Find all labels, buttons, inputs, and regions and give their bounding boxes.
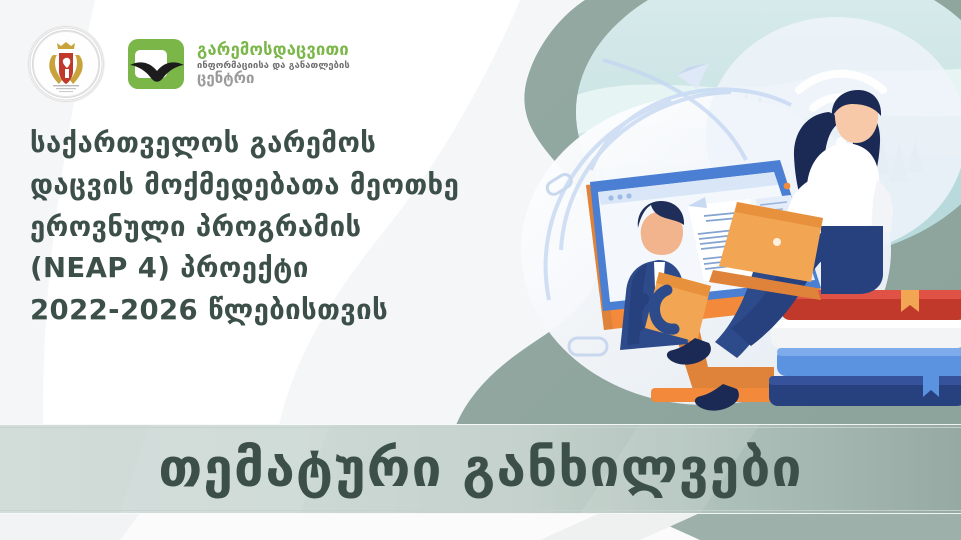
logo-line-1: გარემოსდაცვითი (197, 42, 350, 59)
logo-group: გარემოსდაცვითი ინფორმაციისა და განათლები… (28, 26, 350, 102)
logo-line-3: ცენტრი (197, 71, 350, 86)
title-line-1: საქართველოს გარემოს (30, 123, 459, 165)
ministry-emblem-icon (28, 26, 104, 102)
below-banner-shapes (0, 513, 961, 540)
bottom-banner: თემატური განხილვები (0, 424, 961, 514)
banner-title: თემატური განხილვები (0, 424, 961, 514)
book-stack (769, 290, 961, 406)
logo-mark-svg (126, 35, 188, 93)
logo-wordmark: გარემოსდაცვითი ინფორმაციისა და განათლები… (197, 42, 350, 87)
e-learning-illustration (491, 0, 961, 430)
title-line-3: ეროვნული პროგრამის (30, 207, 459, 249)
environmental-center-logo: გარემოსდაცვითი ინფორმაციისა და განათლები… (126, 35, 350, 93)
title-line-4: (NEAP 4) პროექტი (30, 248, 459, 290)
page-title: საქართველოს გარემოს დაცვის მოქმედებათა მ… (30, 123, 459, 332)
title-line-5: 2022-2026 წლებისთვის (30, 290, 459, 332)
slide-root: გარემოსდაცვითი ინფორმაციისა და განათლები… (0, 0, 961, 540)
illustration-svg (491, 0, 961, 430)
emblem-ring (32, 30, 100, 98)
open-book-square-mark-icon (126, 35, 188, 93)
title-line-2: დაცვის მოქმედებათა მეოთხე (30, 165, 459, 207)
